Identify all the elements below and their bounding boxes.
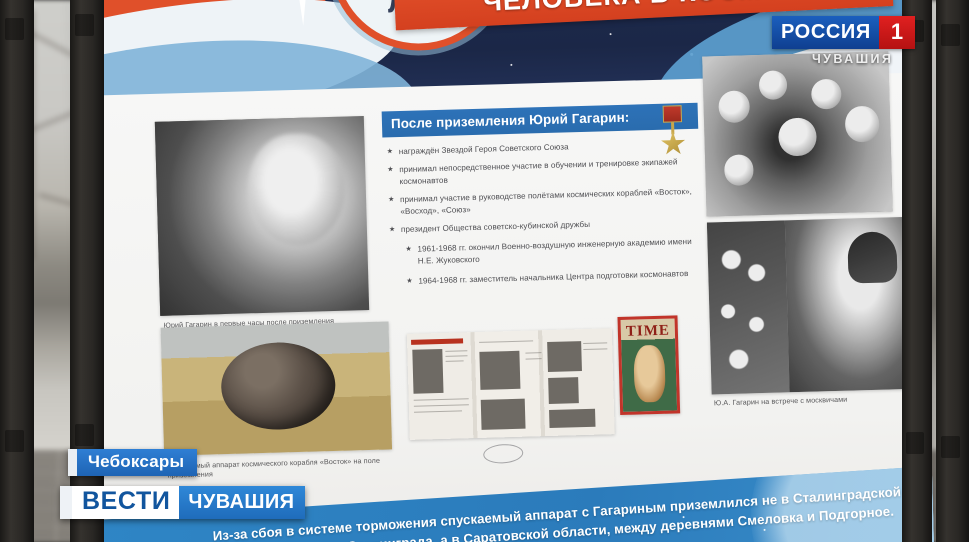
info-bullet: принимал непосредственное участие в обуч… [387, 156, 696, 187]
info-bullet-list: награждён Звездой Героя Советского Союза… [382, 129, 701, 236]
gold-star-icon [660, 131, 686, 157]
newspaper-photo [547, 341, 582, 372]
newspaper-text-line [414, 410, 462, 413]
info-sub-bullet-list: 1961-1968 гг. окончил Военно-воздушную и… [385, 234, 702, 288]
star-dot [610, 33, 612, 35]
program-bar-notch [60, 486, 72, 519]
post-bracket [5, 430, 25, 452]
post-left-outer [0, 0, 34, 542]
newspaper-text-line [445, 355, 467, 357]
newspaper-text-line [479, 340, 533, 343]
child-face [758, 70, 787, 100]
info-bullet: награждён Звездой Героя Советского Союза [387, 138, 695, 158]
post-bracket [75, 14, 95, 36]
newspaper-text-line [414, 398, 469, 401]
star-dot [510, 64, 512, 66]
newspaper-text-line [583, 342, 607, 344]
waving-sub-photo [785, 217, 907, 392]
channel-region-label: ЧУВАШИЯ [812, 52, 893, 66]
time-logo-text: TIME [621, 322, 675, 341]
child-face [718, 90, 750, 123]
photo-gagarin-with-children [702, 51, 892, 216]
newspaper-photo [548, 377, 579, 404]
newspaper-text-line [445, 350, 467, 352]
program-region: ЧУВАШИЯ [179, 486, 305, 519]
post-bracket [941, 24, 960, 46]
photo-newspaper-clippings [407, 328, 615, 440]
child-face [724, 154, 755, 185]
newspaper-text-line [526, 358, 542, 360]
crowd-sub-photo [707, 220, 790, 394]
newspaper-headline [411, 338, 463, 344]
post-bracket [75, 424, 95, 446]
child-face [811, 78, 842, 109]
newspaper-photo [412, 349, 443, 394]
star-dot [764, 529, 766, 531]
channel-logo-number: 1 [879, 16, 915, 49]
post-right-inner [902, 0, 932, 542]
info-text-block: После приземления Юрий Гагарин: награждё… [382, 103, 703, 297]
program-bar: ВЕСТИ ЧУВАШИЯ [60, 486, 305, 519]
channel-logo-name: РОССИЯ [772, 16, 879, 49]
photo-gagarin-waving [707, 217, 908, 394]
info-bullet: президент Общества советско-кубинской др… [389, 216, 697, 236]
newspaper-text-line [525, 352, 541, 354]
newspaper-photo [549, 409, 595, 428]
location-tag-label: Чебоксары [77, 449, 197, 476]
newspaper-photo [481, 399, 526, 430]
channel-logo: РОССИЯ 1 [772, 16, 915, 49]
exhibition-board: ЛЕТ ЧЕЛОВЕКА В КОСМОС Юрий Гагарин в пер… [88, 0, 934, 542]
newspaper-text-line [414, 404, 469, 407]
hero-gold-star-medal-icon [658, 105, 690, 176]
photo-gagarin-portrait [155, 116, 369, 316]
location-tag: Чебоксары [68, 449, 197, 476]
info-sub-bullet: 1961-1968 гг. окончил Военно-воздушную и… [405, 236, 698, 267]
newspaper-text-line [446, 360, 464, 362]
post-right-outer [936, 0, 969, 542]
post-bracket [906, 432, 923, 454]
gagarin-face [778, 117, 816, 156]
post-bracket [5, 18, 25, 40]
medal-ribbon [663, 105, 682, 123]
photo-descent-capsule [161, 321, 392, 455]
photo-time-magazine-cover: TIME [617, 315, 680, 415]
info-sub-bullet: 1964-1968 гг. заместитель начальника Цен… [406, 268, 698, 288]
post-bracket [941, 436, 960, 458]
info-bullet: принимал участие в руководстве полётами … [388, 186, 697, 217]
newspaper-text-line [583, 348, 607, 350]
newspaper-photo [479, 351, 520, 390]
broadcast-frame: ЛЕТ ЧЕЛОВЕКА В КОСМОС Юрий Гагарин в пер… [0, 0, 969, 542]
program-title: ВЕСТИ [72, 486, 179, 519]
location-tag-notch [68, 449, 77, 476]
child-face [845, 106, 879, 142]
